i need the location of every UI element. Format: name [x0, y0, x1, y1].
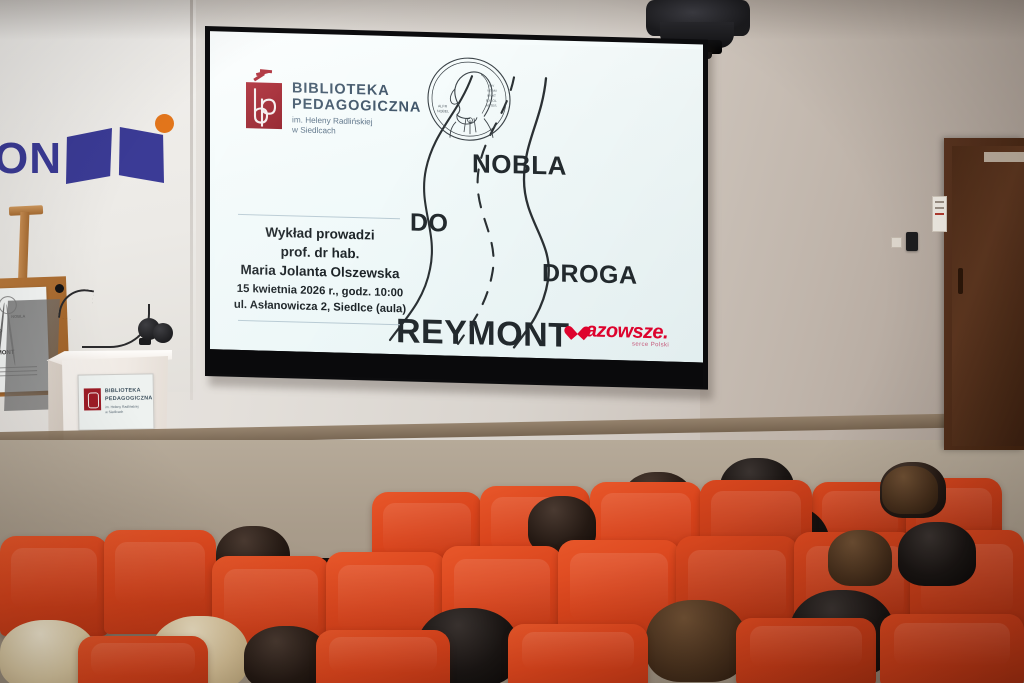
- audience-head: [828, 530, 892, 586]
- wall-card-reader[interactable]: [906, 232, 918, 251]
- door-top-sign: [984, 152, 1024, 162]
- bp-monogram-svg: [246, 82, 282, 129]
- slide-word-do: DO: [410, 209, 449, 239]
- open-book-icon: [64, 112, 170, 190]
- slide-content: BIBLIOTEKA PEDAGOGICZNA im. Heleny Radli…: [210, 31, 703, 362]
- nobel-medal-icon: ALFR NOBEL INV VITAM IUVAT EXCOL ARTES: [426, 55, 512, 143]
- podium-plate-line3: im. Heleny Radlińskiej: [105, 405, 138, 410]
- orange-dot-icon: [155, 114, 174, 133]
- podium-plate-line1: BIBLIOTEKA: [105, 388, 141, 395]
- microphone-capsule-icon: [55, 284, 64, 293]
- slide-info-line3: Maria Jolanta Olszewska: [232, 260, 408, 284]
- svg-text:ALFR: ALFR: [438, 104, 448, 108]
- svg-text:NOBEL: NOBEL: [437, 109, 449, 113]
- wall-logo-text: ON: [0, 134, 62, 184]
- slide-divider-bottom: [238, 320, 400, 325]
- audience-seating: [0, 430, 1024, 683]
- projection-screen: BIBLIOTEKA PEDAGOGICZNA im. Heleny Radli…: [205, 26, 713, 400]
- svg-text:ARTES: ARTES: [486, 104, 497, 108]
- wall-logo: ON: [0, 112, 180, 192]
- seat[interactable]: [78, 636, 208, 683]
- wall-seam: [190, 0, 193, 400]
- slide-divider-top: [238, 214, 400, 219]
- podium-plate-line2: PEDAGOGICZNA: [105, 395, 153, 402]
- svg-text:EXCOL: EXCOL: [486, 99, 497, 103]
- door-leaf[interactable]: [952, 146, 1024, 446]
- audience-head: [646, 600, 746, 682]
- mazowsze-logo: azowsze. serce Polski: [570, 319, 682, 356]
- slide-info-block: Wykład prowadzi prof. dr hab. Maria Jola…: [232, 222, 408, 318]
- slide-logo-line4: w Siedlcach: [292, 124, 336, 136]
- podium-equipment: [138, 318, 176, 344]
- seat[interactable]: [736, 618, 876, 683]
- svg-text:INV: INV: [489, 84, 495, 88]
- svg-text:IUVAT: IUVAT: [487, 94, 496, 98]
- audience-head: [898, 522, 976, 586]
- podium-logo-plate: BIBLIOTEKA PEDAGOGICZNA im. Heleny Radli…: [78, 373, 155, 430]
- mazowsze-wordmark: azowsze.: [586, 319, 668, 344]
- book-page-left: [66, 128, 112, 184]
- seat[interactable]: [316, 630, 450, 683]
- mazowsze-tagline: serce Polski: [632, 342, 669, 349]
- seat[interactable]: [880, 614, 1024, 683]
- slide-library-logo: BIBLIOTEKA PEDAGOGICZNA im. Heleny Radli…: [246, 70, 406, 140]
- slide-word-droga: DROGA: [542, 259, 638, 291]
- svg-text:VITAM: VITAM: [487, 89, 497, 93]
- wall-light-switch[interactable]: [891, 237, 902, 248]
- door-handle[interactable]: [958, 268, 963, 294]
- poster-word-do: DO: [0, 328, 2, 333]
- book-monogram-bp-icon: [246, 82, 282, 129]
- podium-book-icon: [84, 388, 101, 410]
- auditorium-photo: ON NOBLA DO REYMONT: [0, 0, 1024, 683]
- podium-plate-line4: w Siedlcach: [105, 410, 123, 414]
- book-page-right: [118, 127, 164, 183]
- door-notice-sign: [932, 196, 947, 232]
- slide-word-reymont: REYMONT: [396, 312, 570, 356]
- seat[interactable]: [508, 624, 648, 683]
- audience-head: [882, 466, 938, 514]
- slide-word-nobla: NOBLA: [472, 148, 567, 182]
- slide-info-line5: ul. Asłanowicza 2, Siedlce (aula): [232, 297, 408, 318]
